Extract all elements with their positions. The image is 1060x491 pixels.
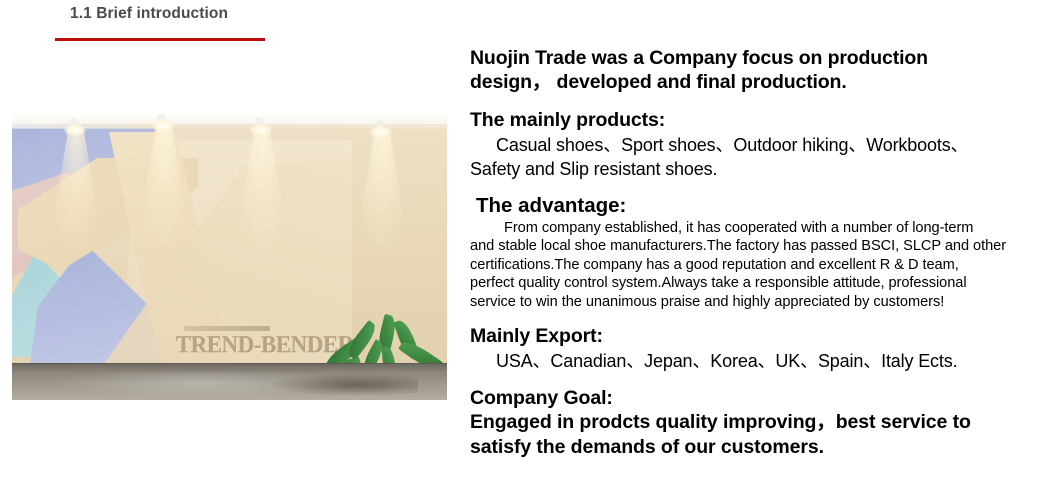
lobby-photo: TREND-BENDER xyxy=(12,112,447,400)
advantage-line-1-text: From company established, it has coopera… xyxy=(504,220,973,236)
lead-paragraph: Nuojin Trade was a Company focus on prod… xyxy=(470,46,1026,94)
goal-heading: Company Goal: xyxy=(470,386,1026,411)
products-line-2: Safety and Slip resistant shoes. xyxy=(470,157,1026,181)
signage-accent-bar xyxy=(184,326,270,331)
products-line-1: Casual shoes、Sport shoes、Outdoor hiking、… xyxy=(470,133,1026,157)
products-block: The mainly products: Casual shoes、Sport … xyxy=(470,108,1026,181)
export-line-1: USA、Canadian、Jepan、Korea、UK、Spain、Italy … xyxy=(470,349,1026,373)
export-heading: Mainly Export: xyxy=(470,324,1026,349)
advantage-line-1: From company established, it has coopera… xyxy=(470,219,1026,238)
advantage-line-2: and stable local shoe manufacturers.The … xyxy=(470,237,1026,256)
advantage-line-4: perfect quality control system.Always ta… xyxy=(470,274,1026,293)
title-underline-rule xyxy=(55,38,265,41)
goal-line-1: Engaged in prodcts quality improving，bes… xyxy=(470,410,1026,435)
goal-line-2: satisfy the demands of our customers. xyxy=(470,435,1026,460)
products-line-1-text: Casual shoes、Sport shoes、Outdoor hiking、… xyxy=(496,135,968,155)
lead-line-2: design， developed and final production. xyxy=(470,70,1026,94)
export-block: Mainly Export: USA、Canadian、Jepan、Korea、… xyxy=(470,324,1026,373)
advantage-block: The advantage: From company established,… xyxy=(470,193,1026,312)
products-heading: The mainly products: xyxy=(470,108,1026,133)
lobby-photo-frame: TREND-BENDER xyxy=(12,112,447,400)
plant-shadow xyxy=(268,374,418,396)
page-title: 1.1 Brief introduction xyxy=(70,5,228,23)
lead-line-1: Nuojin Trade was a Company focus on prod… xyxy=(470,46,1026,70)
export-line-1-text: USA、Canadian、Jepan、Korea、UK、Spain、Italy … xyxy=(496,351,957,371)
advantage-line-5: service to win the unanimous praise and … xyxy=(470,293,1026,312)
advantage-line-3: certifications.The company has a good re… xyxy=(470,256,1026,275)
goal-block: Company Goal: Engaged in prodcts quality… xyxy=(470,386,1026,460)
advantage-heading: The advantage: xyxy=(476,193,1026,219)
company-introduction-text: Nuojin Trade was a Company focus on prod… xyxy=(470,46,1026,459)
